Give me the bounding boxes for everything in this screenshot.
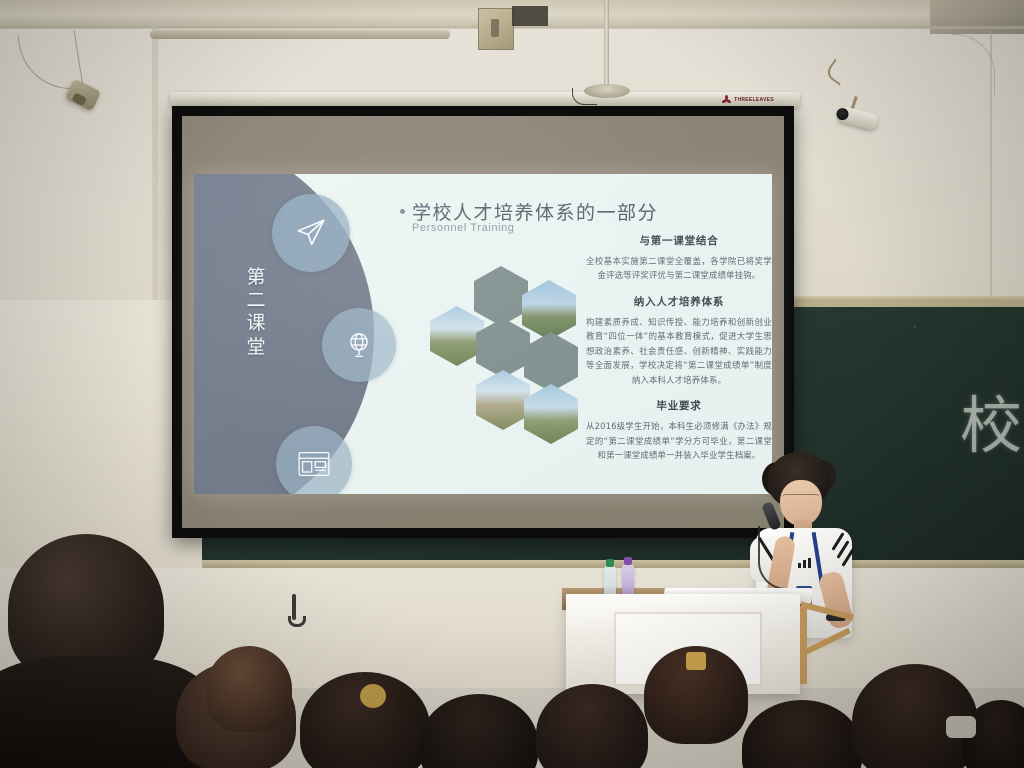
screen-surface: 第二课堂 <box>182 116 784 528</box>
ceiling-pipe <box>150 30 450 39</box>
bottle-cap <box>624 557 632 565</box>
audience-head <box>206 646 292 732</box>
bottle-cap <box>606 559 614 567</box>
slide-title-en: Personnel Training <box>412 222 515 234</box>
hexagon-cell <box>524 384 578 444</box>
section-heading: 纳入人才培养体系 <box>586 294 772 309</box>
section-heading: 与第一课堂结合 <box>586 233 772 248</box>
audience-hairclip <box>946 716 976 738</box>
blackboard-smudge: · <box>912 318 917 336</box>
globe-icon <box>322 308 396 382</box>
slide-body-column: 与第一课堂结合 全校基本实施第二课堂全覆盖，各学院已将奖学金评选等评奖评优与第二… <box>586 222 772 463</box>
wall-junction-box <box>478 8 514 50</box>
hexagon-cell <box>524 332 578 392</box>
wall-hook-lower-icon <box>292 594 296 620</box>
glasses-icon <box>782 494 820 504</box>
three-leaves-logo-icon <box>722 95 731 104</box>
slide-title-zh: 学校人才培养体系的一部分 <box>412 198 658 225</box>
hexagon-cell <box>474 266 528 326</box>
paper-plane-icon <box>272 194 350 272</box>
title-bullet-icon <box>400 209 405 214</box>
section-heading: 毕业要求 <box>586 398 772 413</box>
ceiling-bracket <box>512 6 548 26</box>
audience-hairclip <box>686 652 706 670</box>
slide-title-row: 学校人才培养体系的一部分 <box>400 198 658 225</box>
browser-window-icon <box>276 426 352 494</box>
section-body: 全校基本实施第二课堂全覆盖，各学院已将奖学金评选等评奖评优与第二课堂成绩单挂钩。 <box>586 254 772 283</box>
projection-screen: 第二课堂 <box>172 106 794 538</box>
sensor-cable <box>572 88 597 105</box>
hexagon-cell <box>430 306 484 366</box>
shirt-logo-icon <box>798 558 812 568</box>
hexagon-cell <box>522 280 576 340</box>
projector-brand: THREELEAVES <box>722 95 774 104</box>
chalk-writing: 校 <box>960 375 1024 465</box>
section-body: 构建素质养成、知识传授、能力培养和创新创业教育“四位一体”的基本教育模式，促进大… <box>586 315 772 387</box>
hexagon-photo-cluster <box>430 266 580 441</box>
lectern-brace <box>800 608 854 684</box>
hexagon-cell <box>476 318 530 378</box>
hexagon-cell <box>476 370 530 430</box>
audience-hairband <box>360 684 386 708</box>
ceiling-drop-rod <box>604 0 609 86</box>
classroom-scene: THREELEAVES 校 第 · 第二课堂 <box>0 0 1024 768</box>
slide-vertical-title: 第二课堂 <box>242 266 272 359</box>
presentation-slide: 第二课堂 <box>194 174 772 494</box>
water-bottle-purple-cap <box>622 564 634 598</box>
projector-brand-label: THREELEAVES <box>734 97 774 103</box>
